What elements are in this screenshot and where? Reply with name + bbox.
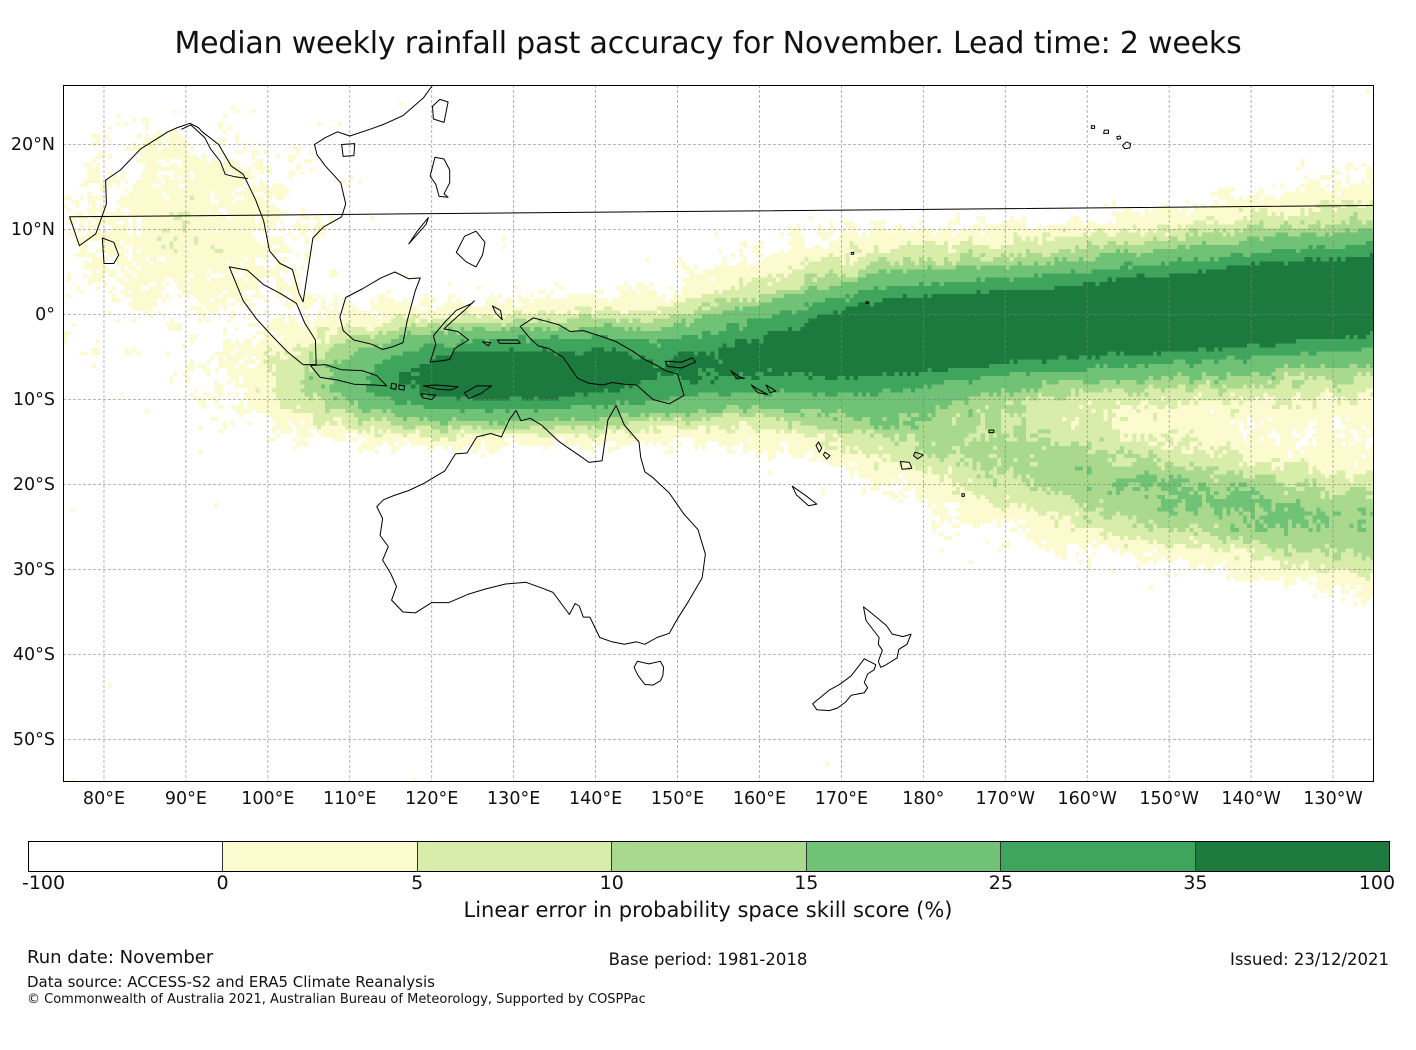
footer-data-source: Data source: ACCESS-S2 and ERA5 Climate …: [27, 973, 435, 991]
xtick-130E: 130°E: [487, 789, 540, 809]
colorbar-tick-5: 5: [411, 872, 423, 894]
figure-root: Median weekly rainfall past accuracy for…: [0, 0, 1416, 1050]
colorbar-tick-neg100: -100: [22, 872, 65, 894]
colorbar-tick-25: 25: [989, 872, 1013, 894]
colorbar-tick-15: 15: [794, 872, 818, 894]
colorbar[interactable]: [28, 841, 1390, 872]
xtick-160W: 160°W: [1057, 789, 1116, 809]
xtick-110E: 110°E: [323, 789, 376, 809]
map-panel[interactable]: [63, 85, 1374, 782]
colorbar-tick-10: 10: [600, 872, 624, 894]
page-title: Median weekly rainfall past accuracy for…: [0, 26, 1416, 61]
colorbar-segment-4: [806, 842, 1000, 871]
colorbar-tick-0: 0: [217, 872, 229, 894]
xtick-140E: 140°E: [569, 789, 622, 809]
colorbar-tick-35: 35: [1183, 872, 1207, 894]
colorbar-tick-100: 100: [1359, 872, 1395, 894]
xtick-180: 180°: [902, 789, 944, 809]
colorbar-label: Linear error in probability space skill …: [0, 898, 1416, 922]
footer-copyright: © Commonwealth of Australia 2021, Austra…: [27, 992, 646, 1007]
xtick-150W: 150°W: [1139, 789, 1198, 809]
xtick-170W: 170°W: [976, 789, 1035, 809]
xtick-160E: 160°E: [733, 789, 786, 809]
colorbar-ticks: -1000510152535100: [28, 872, 1390, 896]
colorbar-segment-5: [1000, 842, 1194, 871]
coastline-overlay: [63, 85, 1374, 782]
colorbar-segment-6: [1195, 842, 1389, 871]
footer-base-period: Base period: 1981-2018: [0, 950, 1416, 969]
xtick-150E: 150°E: [651, 789, 704, 809]
xtick-130W: 130°W: [1303, 789, 1362, 809]
xtick-90E: 90°E: [165, 789, 207, 809]
xtick-140W: 140°W: [1221, 789, 1280, 809]
colorbar-segment-1: [222, 842, 416, 871]
xtick-170E: 170°E: [815, 789, 868, 809]
colorbar-segment-3: [611, 842, 805, 871]
colorbar-segment-0: [29, 842, 222, 871]
footer-issued-date: Issued: 23/12/2021: [1230, 950, 1389, 969]
xtick-80E: 80°E: [83, 789, 125, 809]
colorbar-segment-2: [417, 842, 611, 871]
xtick-100E: 100°E: [241, 789, 294, 809]
xtick-120E: 120°E: [405, 789, 458, 809]
